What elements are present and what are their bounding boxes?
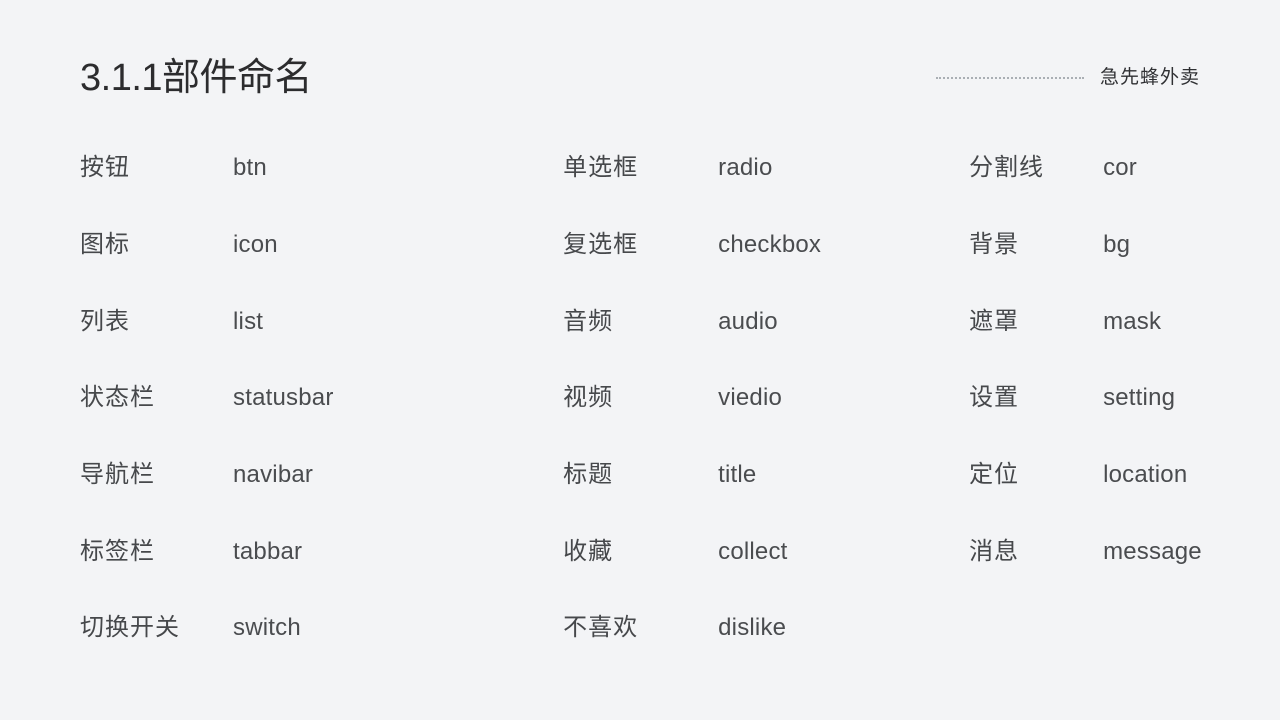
glossary-term-cn: 分割线 bbox=[969, 151, 1103, 185]
glossary-term-cn: 不喜欢 bbox=[563, 611, 718, 645]
brand-label: 急先蜂外卖 bbox=[1100, 63, 1200, 93]
glossary-term-en: setting bbox=[1103, 381, 1175, 415]
glossary-row: 不喜欢dislike bbox=[53, 590, 889, 667]
glossary-term-en: location bbox=[1103, 458, 1187, 492]
slide-header: 3.1.1部件命名 急先蜂外卖 bbox=[0, 0, 1280, 130]
glossary-term-en: dislike bbox=[718, 611, 786, 645]
glossary-column-3: 分割线cor背景bg遮罩mask设置setting定位location消息mes… bbox=[889, 130, 1280, 720]
glossary-row: 遮罩mask bbox=[26, 283, 1280, 360]
glossary-term-cn: 背景 bbox=[969, 228, 1103, 262]
page-title: 3.1.1部件命名 bbox=[80, 54, 312, 102]
glossary-term-cn: 消息 bbox=[969, 535, 1103, 569]
glossary-grid: 按钮btn图标icon列表list状态栏statusbar导航栏navibar标… bbox=[0, 130, 1280, 720]
glossary-term-en: cor bbox=[1103, 151, 1137, 185]
glossary-row: 消息message bbox=[26, 513, 1280, 590]
glossary-row: 定位location bbox=[26, 437, 1280, 514]
glossary-term-en: message bbox=[1103, 535, 1202, 569]
dotted-line-icon bbox=[936, 77, 1084, 80]
glossary-term-cn: 设置 bbox=[969, 381, 1103, 415]
glossary-row: 背景bg bbox=[26, 207, 1280, 284]
glossary-row: 分割线cor bbox=[26, 130, 1280, 207]
glossary-term-en: bg bbox=[1103, 228, 1130, 262]
glossary-row: 设置setting bbox=[26, 360, 1280, 437]
glossary-term-cn: 遮罩 bbox=[969, 305, 1103, 339]
glossary-term-en: mask bbox=[1103, 305, 1161, 339]
glossary-term-cn: 定位 bbox=[969, 458, 1103, 492]
brand-group: 急先蜂外卖 bbox=[936, 62, 1200, 94]
slide-canvas: 3.1.1部件命名 急先蜂外卖 按钮btn图标icon列表list状态栏stat… bbox=[0, 0, 1280, 720]
